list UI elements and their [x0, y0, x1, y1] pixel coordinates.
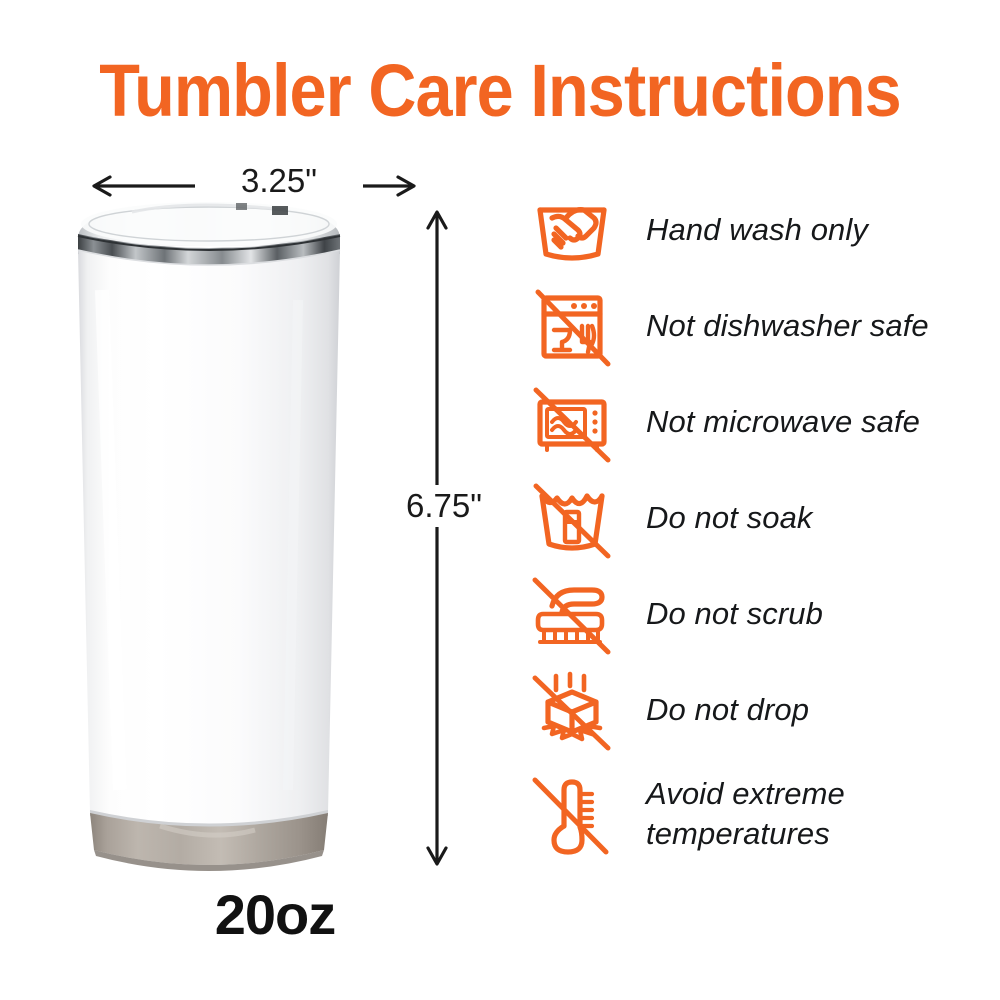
care-label-no-dishwasher: Not dishwasher safe	[624, 306, 929, 346]
care-row-no-dishwasher: Not dishwasher safe	[520, 278, 980, 374]
care-row-no-drop: Do not drop	[520, 662, 980, 758]
care-row-no-soak: Do not soak	[520, 470, 980, 566]
capacity-label: 20oz	[110, 885, 440, 945]
care-label-no-extreme-temperature: Avoid extreme temperatures	[624, 774, 845, 854]
no-scrub-brush-icon	[520, 566, 624, 662]
care-instructions-list: Hand wash only Not dishwasher safe	[520, 182, 980, 870]
care-label-no-microwave: Not microwave safe	[624, 402, 920, 442]
no-soak-icon	[520, 470, 624, 566]
care-row-hand-wash: Hand wash only	[520, 182, 980, 278]
width-dimension-label: 3.25"	[195, 162, 363, 200]
tumbler-image	[40, 150, 500, 960]
care-label-no-soak: Do not soak	[624, 498, 813, 538]
no-drop-icon	[520, 662, 624, 758]
height-dimension-arrow	[428, 212, 446, 864]
hand-wash-icon	[520, 182, 624, 278]
no-dishwasher-icon	[520, 278, 624, 374]
no-extreme-temperature-icon	[520, 766, 624, 862]
care-row-no-extreme-temperature: Avoid extreme temperatures	[520, 758, 980, 870]
care-row-no-scrub: Do not scrub	[520, 566, 980, 662]
care-label-no-drop: Do not drop	[624, 690, 809, 730]
no-microwave-icon	[520, 374, 624, 470]
care-row-no-microwave: Not microwave safe	[520, 374, 980, 470]
care-label-hand-wash: Hand wash only	[624, 210, 868, 250]
height-dimension-label: 6.75"	[403, 485, 539, 527]
page-title: Tumbler Care Instructions	[50, 52, 950, 130]
tumbler-care-infographic: Tumbler Care Instructions	[0, 0, 1000, 1000]
care-label-no-scrub: Do not scrub	[624, 594, 823, 634]
product-illustration-panel: 3.25" 6.75" 20oz	[40, 150, 500, 960]
